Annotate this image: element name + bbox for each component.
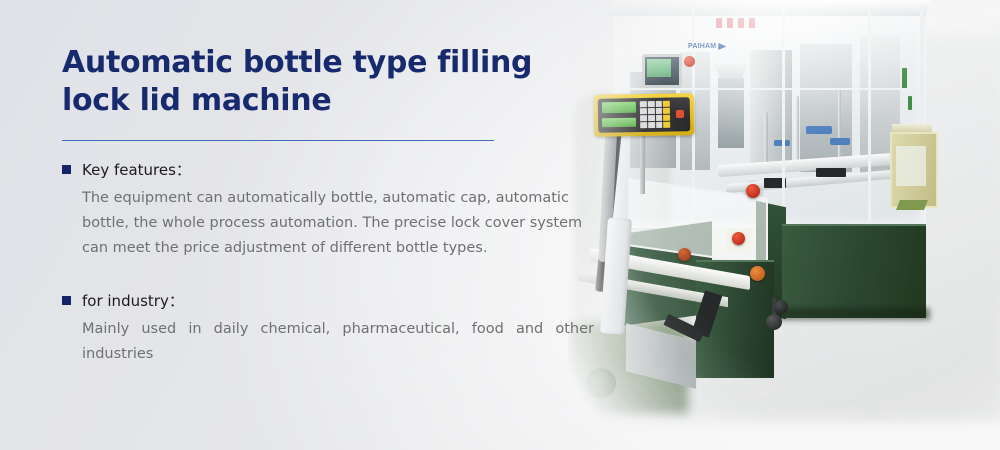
enclosure-roof — [605, 0, 930, 16]
section-heading-label: Key features： — [82, 161, 191, 179]
emergency-stop-3 — [750, 266, 765, 281]
pipe-2 — [796, 96, 799, 166]
section-key-features: Key features： The equipment can automati… — [62, 161, 602, 261]
enclosure-mullion-3 — [868, 8, 871, 222]
base-shadow — [774, 308, 930, 320]
enclosure-rail-horizontal — [614, 88, 920, 90]
adjustment-knob-lower — [766, 314, 782, 330]
internal-module-4 — [750, 50, 792, 170]
title-divider — [62, 140, 494, 141]
hmi-screen-display — [647, 59, 671, 77]
pneumatic-actuator-2 — [830, 138, 850, 145]
machine-base-main — [782, 224, 926, 318]
brand-logo-text: PAIHAM — [688, 43, 716, 50]
control-panel-lcd-lower — [602, 118, 636, 128]
emergency-stop-4 — [678, 248, 691, 261]
section-heading-row: for industry： — [62, 292, 602, 310]
section-body-text: The equipment can automatically bottle, … — [62, 186, 594, 261]
pipe-1 — [764, 112, 768, 166]
bullet-square-icon — [62, 296, 71, 305]
adjustment-knob-upper — [774, 300, 788, 314]
emergency-stop-2 — [732, 232, 745, 245]
page-title: Automatic bottle type filling lock lid m… — [62, 44, 602, 121]
side-unit-foot — [896, 200, 928, 210]
brand-logo-mark — [718, 43, 726, 50]
side-unit-window — [896, 146, 926, 186]
dark-component-2 — [816, 168, 846, 177]
brand-logo: PAIHAM — [688, 42, 732, 51]
status-light-green-2 — [908, 96, 912, 110]
bullet-square-icon — [62, 165, 71, 174]
machine-photo: PAIHAM — [568, 0, 1000, 450]
control-panel-lcd-upper — [602, 102, 636, 114]
control-panel-indicator-light — [676, 110, 684, 118]
control-panel-stalk — [640, 134, 645, 194]
section-body-text: Mainly used in daily chemical, pharmaceu… — [62, 317, 594, 367]
pneumatic-actuator-1 — [806, 126, 832, 134]
control-panel-keypad — [640, 101, 670, 129]
enclosure-mullion-2 — [782, 8, 785, 222]
text-column: Automatic bottle type filling lock lid m… — [62, 44, 602, 381]
internal-module-5 — [800, 44, 852, 172]
section-heading-row: Key features： — [62, 161, 602, 179]
section-heading-label: for industry： — [82, 292, 184, 310]
emergency-stop-1 — [746, 184, 760, 198]
status-light-green-1 — [902, 68, 907, 90]
warning-decal — [716, 18, 758, 28]
emergency-stop-top — [684, 56, 695, 67]
section-for-industry: for industry： Mainly used in daily chemi… — [62, 292, 602, 367]
product-banner: PAIHAM — [0, 0, 1000, 450]
